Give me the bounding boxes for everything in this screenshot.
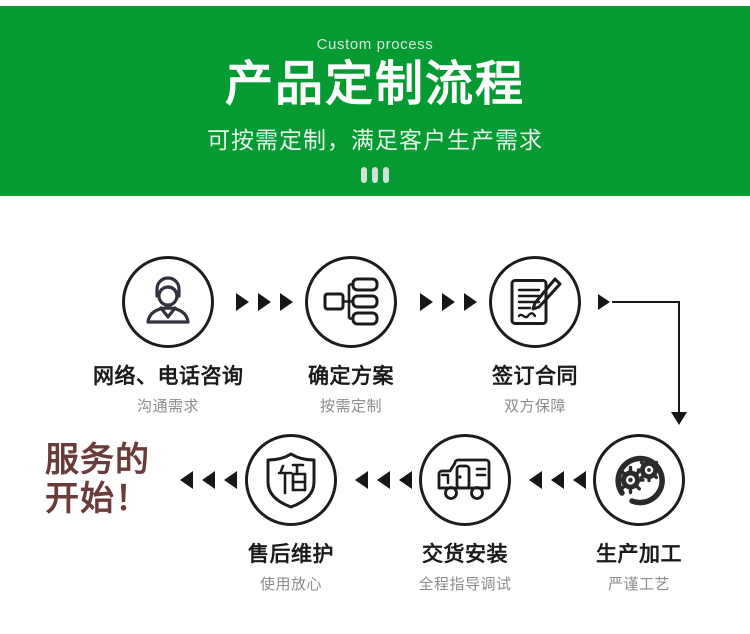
- flow-step-2-subtitle: 按需定制: [276, 395, 426, 416]
- service-start-line-2: 开始！: [45, 480, 195, 519]
- arrows-step5-to-step4: [355, 471, 412, 489]
- arrow-right-icon: [420, 293, 433, 311]
- arrow-left-icon: [224, 471, 237, 489]
- flow-step-6-title: 生产加工: [564, 538, 714, 568]
- arrows-step2-to-step3: [420, 293, 477, 311]
- arrow-left-icon: [551, 471, 564, 489]
- contract-pen-icon: [506, 273, 564, 331]
- flow-step-2[interactable]: 确定方案 按需定制: [276, 256, 426, 416]
- flow-step-4[interactable]: 售后维护 使用放心: [216, 434, 366, 594]
- headset-person-icon: [138, 273, 198, 331]
- process-flow-diagram: 网络、电话咨询 沟通需求 确定方案 按需定制: [0, 196, 750, 634]
- arrow-left-icon: [573, 471, 586, 489]
- arrow-left-icon: [377, 471, 390, 489]
- arrow-left-icon: [529, 471, 542, 489]
- gears-production-icon: [608, 449, 670, 511]
- flow-step-3[interactable]: 签订合同 双方保障: [460, 256, 610, 416]
- hero-dot: [372, 167, 378, 183]
- arrow-right-icon: [442, 293, 455, 311]
- hero-dot: [361, 167, 367, 183]
- hero-subtitle: 可按需定制，满足客户生产需求: [207, 121, 543, 155]
- flow-step-1[interactable]: 网络、电话咨询 沟通需求: [93, 256, 243, 416]
- service-start-callout: 服务的 开始！: [45, 441, 195, 519]
- hero-dots-decoration: [361, 167, 389, 183]
- service-start-line-1: 服务的: [45, 441, 195, 480]
- flowchart-icon: [322, 276, 380, 328]
- arrow-left-icon: [399, 471, 412, 489]
- arrow-right-icon: [598, 294, 610, 310]
- arrow-right-icon: [258, 293, 271, 311]
- flow-step-3-subtitle: 双方保障: [460, 395, 610, 416]
- flow-step-5[interactable]: 交货安装 全程指导调试: [390, 434, 540, 594]
- elbow-connector-step3-to-step6: [612, 295, 682, 428]
- elbow-vertical-line: [678, 301, 680, 414]
- page-title: 产品定制流程: [225, 59, 525, 111]
- arrow-left-icon: [202, 471, 215, 489]
- arrows-step6-to-step5: [529, 471, 586, 489]
- flow-step-2-title: 确定方案: [276, 360, 426, 390]
- arrow-left-icon: [355, 471, 368, 489]
- arrows-step1-to-step2: [236, 293, 293, 311]
- flow-step-4-title: 售后维护: [216, 538, 366, 568]
- arrow-down-icon: [671, 412, 687, 425]
- arrow-right-icon: [280, 293, 293, 311]
- flow-step-5-circle: [419, 434, 511, 526]
- flow-step-4-subtitle: 使用放心: [216, 573, 366, 594]
- flow-step-1-circle: [122, 256, 214, 348]
- flow-step-3-title: 签订合同: [460, 360, 610, 390]
- arrow-right-icon: [464, 293, 477, 311]
- flow-step-6-subtitle: 严谨工艺: [564, 573, 714, 594]
- flow-step-5-title: 交货安装: [390, 538, 540, 568]
- flow-step-3-circle: [489, 256, 581, 348]
- flow-step-1-subtitle: 沟通需求: [93, 395, 243, 416]
- flow-step-5-subtitle: 全程指导调试: [390, 573, 540, 594]
- arrow-right-icon: [236, 293, 249, 311]
- flow-step-4-circle: [245, 434, 337, 526]
- flow-step-1-title: 网络、电话咨询: [93, 360, 243, 390]
- flow-step-2-circle: [305, 256, 397, 348]
- hero-eyebrow: Custom process: [317, 36, 434, 53]
- hero-dot: [383, 167, 389, 183]
- elbow-horizontal-line: [612, 301, 680, 303]
- delivery-truck-icon: [434, 457, 496, 503]
- hero-banner: Custom process 产品定制流程 可按需定制，满足客户生产需求: [0, 6, 750, 196]
- flow-step-6[interactable]: 生产加工 严谨工艺: [564, 434, 714, 594]
- shield-after-sales-icon: [263, 451, 319, 509]
- flow-step-6-circle: [593, 434, 685, 526]
